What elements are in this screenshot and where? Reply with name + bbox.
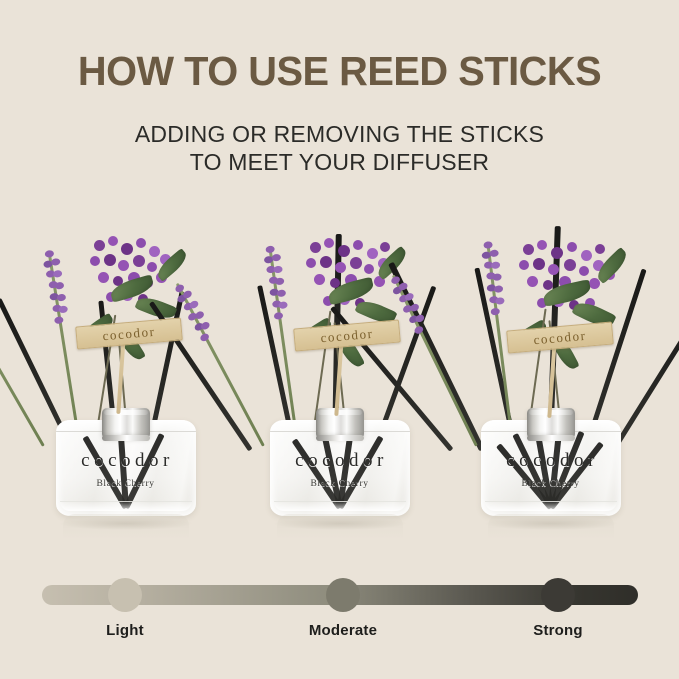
bottle-reflection (488, 514, 614, 540)
page-title: HOW TO USE REED STICKS (10, 48, 669, 94)
bottle-cap (316, 408, 364, 438)
bottle-scent-name: Black Cherry (56, 479, 196, 489)
diffuser-bottle-strong: cocodor Black Cherry (475, 408, 627, 538)
lavender-flower (0, 283, 50, 450)
bottle-brand-name: cocodor (56, 450, 196, 472)
bottle-reflection (63, 514, 189, 540)
bottle-label: cocodor Black Cherry (56, 450, 196, 489)
page-subtitle: ADDING OR REMOVING THE STICKS TO MEET YO… (0, 120, 679, 176)
diffuser-bottle-moderate: cocodor Black Cherry (264, 408, 416, 538)
slider-label-strong: Strong (498, 622, 618, 639)
bottle-label: cocodor Black Cherry (270, 450, 410, 489)
slider-knob-moderate[interactable] (326, 578, 360, 612)
brand-tag-label: cocodor (320, 326, 374, 346)
brand-tag-label: cocodor (102, 324, 156, 344)
infographic-canvas: HOW TO USE REED STICKS ADDING OR REMOVIN… (0, 0, 679, 679)
brand-tag-label: cocodor (533, 328, 587, 348)
slider-label-light: Light (65, 622, 185, 639)
brand-tag: cocodor (293, 319, 401, 351)
subtitle-line-1: ADDING OR REMOVING THE STICKS (0, 120, 679, 148)
intensity-slider[interactable]: Light Moderate Strong (0, 576, 679, 656)
diffuser-arrangement-moderate: cocodor cocodor Black Cherry (232, 196, 447, 556)
bottle-brand-name: cocodor (270, 450, 410, 472)
diffuser-arrangement-strong: cocodor cocodor (443, 196, 658, 556)
bottle-brand-name: cocodor (481, 450, 621, 472)
brand-tag: cocodor (506, 321, 614, 353)
slider-knob-strong[interactable] (541, 578, 575, 612)
diffuser-arrangements: cocodor cocodor Black Cherry (0, 196, 679, 556)
diffuser-bottle-light: cocodor Black Cherry (50, 408, 202, 538)
bottle-scent-name: Black Cherry (481, 479, 621, 489)
brand-tag: cocodor (75, 317, 183, 349)
slider-label-moderate: Moderate (283, 622, 403, 639)
subtitle-line-2: TO MEET YOUR DIFFUSER (0, 148, 679, 176)
bottle-reflection (277, 514, 403, 540)
slider-knob-light[interactable] (108, 578, 142, 612)
bottle-scent-name: Black Cherry (270, 479, 410, 489)
bottle-label: cocodor Black Cherry (481, 450, 621, 489)
bottle-cap (102, 408, 150, 438)
